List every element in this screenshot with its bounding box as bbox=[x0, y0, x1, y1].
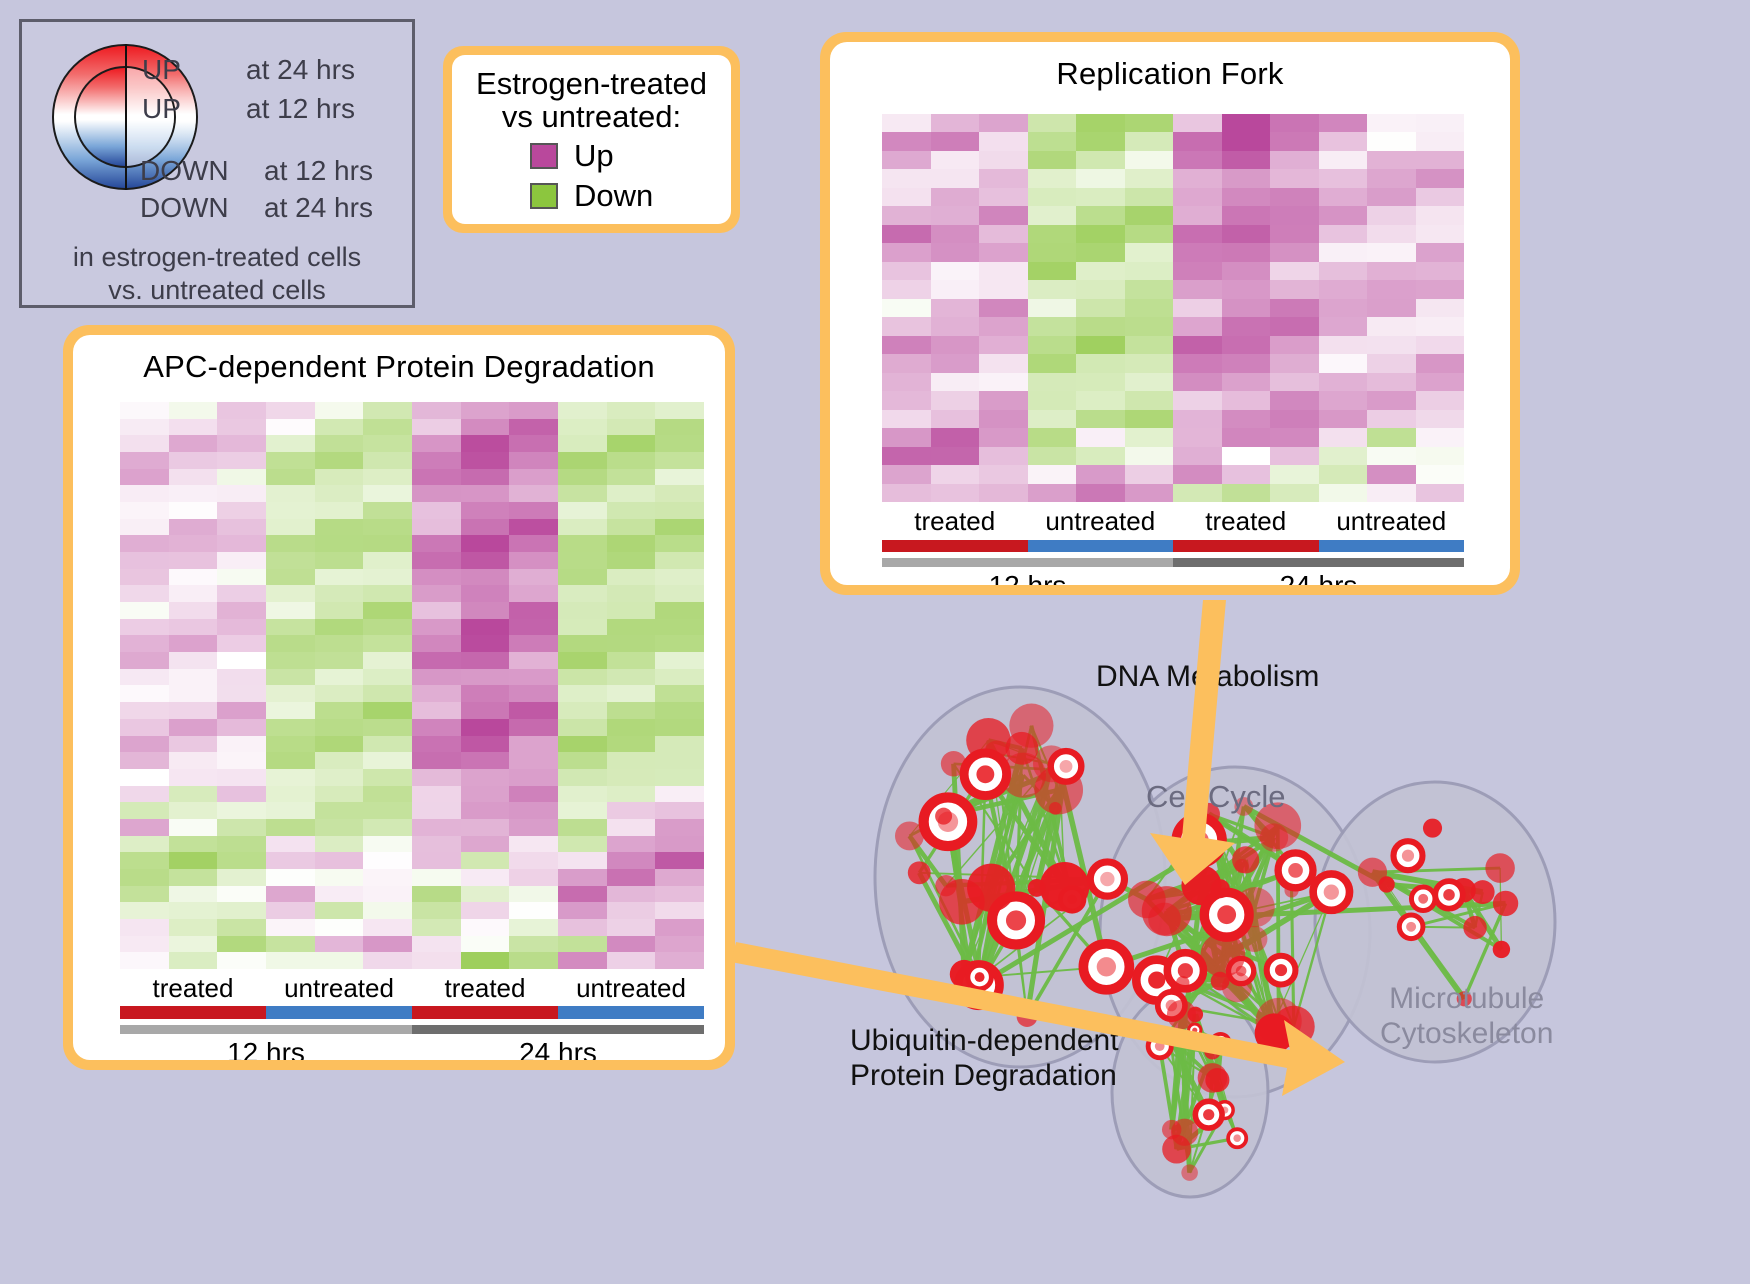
apc-degradation-panel: APC-dependent Protein Degradation treate… bbox=[63, 325, 735, 1070]
network-node-core bbox=[1192, 1028, 1197, 1033]
key-at-24-label: at 24 hrs bbox=[246, 54, 355, 86]
network-node-core bbox=[1097, 957, 1116, 976]
network-node[interactable] bbox=[1187, 1007, 1203, 1023]
network-node-core bbox=[1155, 1041, 1165, 1051]
legend-heading-line1: Estrogen-treated bbox=[452, 55, 731, 100]
network-node-core bbox=[1217, 1039, 1225, 1047]
apc-treatment-bar bbox=[120, 1006, 704, 1019]
replication-fork-panel: Replication Fork treateduntreatedtreated… bbox=[820, 32, 1520, 595]
network-node[interactable] bbox=[1009, 704, 1053, 748]
network-node-core bbox=[976, 765, 994, 783]
cluster-label-ubiquitin-degradation: Ubiquitin-dependent Protein Degradation bbox=[850, 1023, 1119, 1094]
time-label-1: 24 hrs bbox=[412, 1037, 704, 1060]
network-node[interactable] bbox=[1176, 976, 1189, 989]
network-node-core bbox=[1275, 964, 1287, 976]
time-bar-segment-1 bbox=[412, 1025, 704, 1034]
network-node-core bbox=[1443, 889, 1455, 901]
key-up-24-label: UP bbox=[142, 54, 181, 86]
key-down-24-label: DOWN bbox=[140, 192, 229, 224]
treatment-bar-segment-1 bbox=[1028, 540, 1174, 552]
network-node[interactable] bbox=[1028, 879, 1046, 897]
legend-down-label: Down bbox=[574, 178, 653, 214]
down-color-swatch bbox=[530, 183, 558, 209]
group-label-3: untreated bbox=[1319, 506, 1465, 538]
treatment-bar-segment-0 bbox=[120, 1006, 266, 1019]
replication-fork-group-labels: treateduntreatedtreateduntreated bbox=[882, 506, 1464, 538]
cluster-label-cell-cycle: Cell Cycle bbox=[1146, 779, 1286, 815]
time-label-0: 12 hrs bbox=[882, 570, 1173, 585]
replication-fork-heatmap bbox=[882, 114, 1464, 502]
time-bar-segment-0 bbox=[120, 1025, 412, 1034]
network-node[interactable] bbox=[1211, 879, 1230, 898]
network-node[interactable] bbox=[1181, 1164, 1198, 1181]
network-node-core bbox=[1203, 1109, 1214, 1120]
group-label-3: untreated bbox=[558, 973, 704, 1005]
replication-fork-title: Replication Fork bbox=[830, 42, 1510, 92]
network-node[interactable] bbox=[941, 751, 966, 776]
group-label-0: treated bbox=[120, 973, 266, 1005]
network-node[interactable] bbox=[935, 808, 952, 825]
expression-key-box: UP at 24 hrs UP at 12 hrs DOWN at 12 hrs… bbox=[19, 19, 415, 308]
network-node-core bbox=[1148, 972, 1165, 989]
network-node[interactable] bbox=[1040, 862, 1089, 911]
apc-heatmap bbox=[120, 402, 704, 969]
time-label-1: 24 hrs bbox=[1173, 570, 1464, 585]
network-node-core bbox=[1288, 863, 1303, 878]
key-at-12b-label: at 12 hrs bbox=[264, 155, 373, 187]
network-node-core bbox=[975, 972, 985, 982]
network-node[interactable] bbox=[1493, 891, 1518, 916]
group-label-2: treated bbox=[1173, 506, 1319, 538]
network-node-core bbox=[1006, 910, 1026, 930]
group-label-1: untreated bbox=[1028, 506, 1174, 538]
key-at-24b-label: at 24 hrs bbox=[264, 192, 373, 224]
key-at-12-label: at 12 hrs bbox=[246, 93, 355, 125]
group-label-0: treated bbox=[882, 506, 1028, 538]
network-node-core bbox=[1418, 894, 1428, 904]
treatment-bar-segment-2 bbox=[412, 1006, 558, 1019]
network-node-core bbox=[1060, 760, 1073, 773]
replication-fork-treatment-bar bbox=[882, 540, 1464, 552]
network-node-core bbox=[1324, 884, 1339, 899]
network-node[interactable] bbox=[1471, 880, 1495, 904]
legend-up-label: Up bbox=[574, 138, 614, 174]
network-node[interactable] bbox=[1241, 926, 1267, 952]
network-node[interactable] bbox=[1205, 1068, 1229, 1092]
key-footer-line2: vs. untreated cells bbox=[22, 274, 412, 307]
key-footer-line1: in estrogen-treated cells bbox=[22, 241, 412, 274]
apc-time-labels: 12 hrs24 hrs bbox=[120, 1037, 704, 1060]
network-node-core bbox=[1190, 831, 1209, 850]
time-bar-segment-0 bbox=[882, 558, 1173, 567]
network-node-core bbox=[1233, 1134, 1241, 1142]
network-node[interactable] bbox=[1211, 972, 1230, 991]
cluster-label-microtubule-cytoskeleton: Microtubule Cytoskeleton bbox=[1380, 982, 1553, 1051]
up-color-swatch bbox=[530, 143, 558, 169]
network-node-core bbox=[1402, 850, 1414, 862]
network-node-core bbox=[1100, 872, 1114, 886]
time-label-0: 12 hrs bbox=[120, 1037, 412, 1060]
replication-fork-time-bar bbox=[882, 558, 1464, 567]
network-node-core bbox=[1217, 905, 1236, 924]
network-node[interactable] bbox=[1485, 853, 1515, 883]
key-down-12-label: DOWN bbox=[140, 155, 229, 187]
network-node[interactable] bbox=[1423, 819, 1442, 838]
updown-legend-panel: Estrogen-treated vs untreated: Up Down bbox=[443, 46, 740, 233]
network-node[interactable] bbox=[1256, 998, 1302, 1044]
replication-fork-time-labels: 12 hrs24 hrs bbox=[882, 570, 1464, 585]
network-node[interactable] bbox=[1463, 916, 1486, 939]
network-node[interactable] bbox=[1171, 1119, 1198, 1146]
network-node[interactable] bbox=[1049, 802, 1062, 815]
cluster-label-dna-metabolism: DNA Metabolism bbox=[1096, 660, 1319, 694]
network-svg bbox=[790, 612, 1750, 1279]
network-node-core bbox=[1406, 922, 1416, 932]
network-edge bbox=[1278, 826, 1279, 1021]
network-node[interactable] bbox=[1260, 823, 1288, 851]
pathway-network-graph: DNA Metabolism Cell Cycle Microtubule Cy… bbox=[790, 612, 1750, 1279]
time-bar-segment-1 bbox=[1173, 558, 1464, 567]
network-node[interactable] bbox=[908, 861, 931, 884]
legend-row-down: Down bbox=[452, 178, 731, 214]
network-node[interactable] bbox=[1128, 881, 1166, 919]
key-up-12-label: UP bbox=[142, 93, 181, 125]
apc-group-labels: treateduntreatedtreateduntreated bbox=[120, 973, 704, 1005]
network-node[interactable] bbox=[895, 821, 924, 850]
treatment-bar-segment-1 bbox=[266, 1006, 412, 1019]
network-node[interactable] bbox=[1232, 846, 1259, 873]
legend-heading-line2: vs untreated: bbox=[452, 100, 731, 133]
treatment-bar-segment-2 bbox=[1173, 540, 1319, 552]
network-node-core bbox=[1178, 963, 1193, 978]
treatment-bar-segment-3 bbox=[1319, 540, 1465, 552]
network-node[interactable] bbox=[1493, 941, 1510, 958]
legend-row-up: Up bbox=[452, 138, 731, 174]
apc-time-bar bbox=[120, 1025, 704, 1034]
network-node[interactable] bbox=[967, 864, 1015, 912]
group-label-2: treated bbox=[412, 973, 558, 1005]
treatment-bar-segment-3 bbox=[558, 1006, 704, 1019]
apc-panel-title: APC-dependent Protein Degradation bbox=[73, 335, 725, 385]
network-node[interactable] bbox=[1378, 876, 1394, 892]
ring-divider-line bbox=[125, 44, 127, 190]
group-label-1: untreated bbox=[266, 973, 412, 1005]
treatment-bar-segment-0 bbox=[882, 540, 1028, 552]
network-node[interactable] bbox=[935, 875, 956, 896]
